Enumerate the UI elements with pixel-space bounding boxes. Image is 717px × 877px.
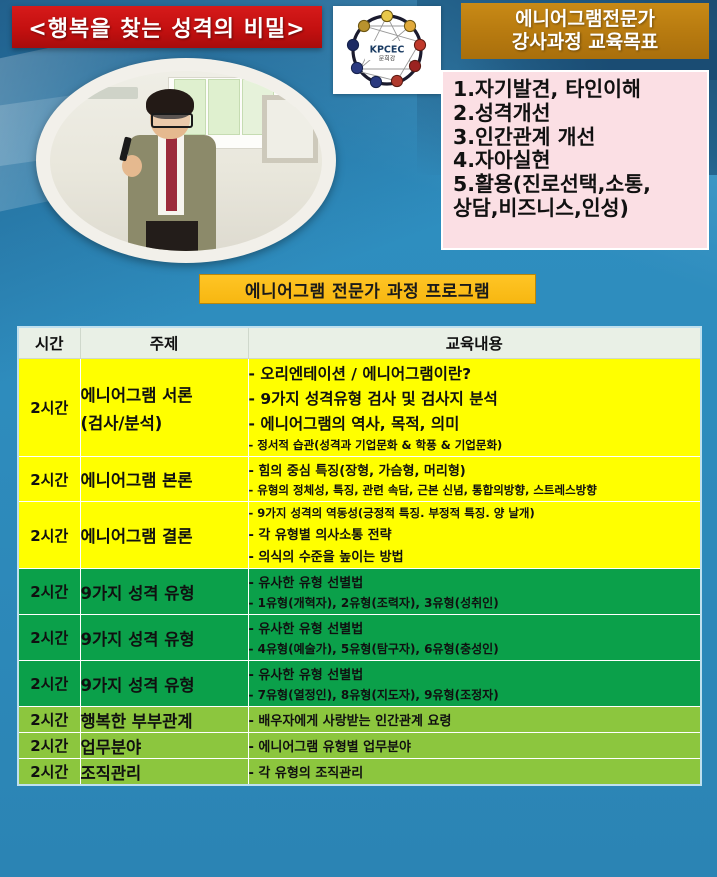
photo-person-glasses [151,113,193,128]
cell-topic-main: 조직관리 [81,764,142,783]
cell-time: 2시간 [18,733,80,759]
cell-topic: 에니어그램 본론 [80,457,248,502]
cell-topic: 업무분야 [80,733,248,759]
cell-time: 2시간 [18,661,80,707]
content-line: - 정서적 습관(성격과 기업문화 & 학풍 & 기업문화) [249,437,701,453]
objective-item-4: 4.자아실현 [453,149,701,173]
table-row: 2시간조직관리- 각 유형의 조직관리 [18,759,701,786]
table-row: 2시간행복한 부부관계- 배우자에게 사랑받는 인간관계 요령 [18,707,701,733]
svg-text:KPCEC: KPCEC [370,45,405,56]
content-line: - 7유형(열정인), 8유형(지도자), 9유형(조정자) [249,686,701,703]
slide-title-banner: <행복을 찾는 성격의 비밀> [12,6,322,48]
cell-content: - 각 유형의 조직관리 [248,759,701,786]
cell-topic-main: 업무분야 [81,738,142,757]
objectives-header: 에니어그램전문가 강사과정 교육목표 [461,3,709,59]
table-row: 2시간에니어그램 서론(검사/분석)- 오리엔테이션 / 에니어그램이란?- 9… [18,359,701,457]
photo-wall-logo [76,87,138,99]
lecturer-photo [50,71,322,251]
objective-item-5: 5.활용(진로선택,소통, [453,173,701,197]
cell-topic-main: 9가지 성격 유형 [81,676,195,695]
curriculum-table-body: 2시간에니어그램 서론(검사/분석)- 오리엔테이션 / 에니어그램이란?- 9… [18,359,701,786]
table-header-row: 시간 주제 교육내용 [18,327,701,359]
objective-item-2: 2.성격개선 [453,102,701,126]
cell-topic-main: 에니어그램 본론 [81,471,193,490]
cell-content: - 에니어그램 유형별 업무분야 [248,733,701,759]
content-line: - 배우자에게 사랑받는 인간관계 요령 [249,710,701,729]
cell-topic: 9가지 성격 유형 [80,661,248,707]
cell-content: - 힘의 중심 특징(장형, 가슴형, 머리형)- 유형의 정체성, 특징, 관… [248,457,701,502]
cell-time: 2시간 [18,707,80,733]
cell-time: 2시간 [18,359,80,457]
objective-item-5-continued: 상담,비즈니스,인성) [453,197,701,221]
cell-content: - 배우자에게 사랑받는 인간관계 요령 [248,707,701,733]
content-line: - 오리엔테이션 / 에니어그램이란? [249,362,701,384]
column-header-content: 교육내용 [248,327,701,359]
content-line: - 각 유형의 조직관리 [249,762,701,781]
table-row: 2시간업무분야- 에니어그램 유형별 업무분야 [18,733,701,759]
cell-time: 2시간 [18,759,80,786]
cell-content: - 유사한 유형 선별법- 1유형(개혁자), 2유형(조력자), 3유형(성취… [248,569,701,615]
cell-time: 2시간 [18,457,80,502]
content-line: - 1유형(개혁자), 2유형(조력자), 3유형(성취인) [249,594,701,611]
cell-topic: 9가지 성격 유형 [80,615,248,661]
content-line: - 유사한 유형 선별법 [249,618,701,637]
program-title-text: 에니어그램 전문가 과정 프로그램 [245,277,490,302]
table-row: 2시간9가지 성격 유형- 유사한 유형 선별법- 4유형(예술가), 5유형(… [18,615,701,661]
photo-board-card [208,79,240,135]
photo-person-tie [166,137,177,211]
cell-time: 2시간 [18,569,80,615]
cell-time: 2시간 [18,502,80,569]
table-row: 2시간에니어그램 결론- 9가지 성격의 역동성(긍정적 특징. 부정적 특징.… [18,502,701,569]
cell-topic-main: 에니어그램 서론 [81,386,193,405]
column-header-topic: 주제 [80,327,248,359]
svg-text:문희강: 문희강 [379,55,396,63]
content-line: - 힘의 중심 특징(장형, 가슴형, 머리형) [249,460,701,479]
content-line: - 각 유형별 의사소통 전략 [249,524,701,543]
enneagram-diagram-icon: KPCEC 문희강 [337,9,437,91]
cell-content: - 오리엔테이션 / 에니어그램이란?- 9가지 성격유형 검사 및 검사지 분… [248,359,701,457]
content-line: - 에니어그램의 역사, 목적, 의미 [249,412,701,434]
curriculum-table: 시간 주제 교육내용 2시간에니어그램 서론(검사/분석)- 오리엔테이션 / … [17,326,702,786]
lecturer-photo-frame [36,58,336,263]
cell-topic-sub: (검사/분석) [81,410,248,434]
kpcec-enneagram-logo: KPCEC 문희강 [333,6,441,94]
cell-topic: 조직관리 [80,759,248,786]
content-line: - 유형의 정체성, 특징, 관련 속담, 근본 신념, 통합의방향, 스트레스… [249,482,701,498]
cell-time: 2시간 [18,615,80,661]
table-row: 2시간9가지 성격 유형- 유사한 유형 선별법- 7유형(열정인), 8유형(… [18,661,701,707]
cell-content: - 9가지 성격의 역동성(긍정적 특징. 부정적 특징. 양 날개)- 각 유… [248,502,701,569]
photo-person-trousers [146,221,198,251]
objective-item-3: 3.인간관계 개선 [453,126,701,150]
cell-topic: 에니어그램 결론 [80,502,248,569]
photo-window [262,95,318,163]
cell-topic-main: 9가지 성격 유형 [81,584,195,603]
cell-topic: 행복한 부부관계 [80,707,248,733]
objectives-header-line1: 에니어그램전문가 [515,8,655,31]
objectives-header-line2: 강사과정 교육목표 [512,31,658,54]
content-line: - 9가지 성격유형 검사 및 검사지 분석 [249,387,701,409]
content-line: - 4유형(예술가), 5유형(탐구자), 6유형(충성인) [249,640,701,657]
content-line: - 의식의 수준을 높이는 방법 [249,546,701,565]
cell-topic-main: 9가지 성격 유형 [81,630,195,649]
program-title-banner: 에니어그램 전문가 과정 프로그램 [199,274,536,304]
column-header-time: 시간 [18,327,80,359]
cell-content: - 유사한 유형 선별법- 7유형(열정인), 8유형(지도자), 9유형(조정… [248,661,701,707]
cell-topic-main: 에니어그램 결론 [81,527,193,546]
content-line: - 9가지 성격의 역동성(긍정적 특징. 부정적 특징. 양 날개) [249,505,701,521]
objective-item-1: 1.자기발견, 타인이해 [453,78,701,102]
table-row: 2시간에니어그램 본론- 힘의 중심 특징(장형, 가슴형, 머리형)- 유형의… [18,457,701,502]
slide-title-text: <행복을 찾는 성격의 비밀> [28,11,305,43]
objectives-list: 1.자기발견, 타인이해 2.성격개선 3.인간관계 개선 4.자아실현 5.활… [441,70,709,250]
cell-topic: 9가지 성격 유형 [80,569,248,615]
cell-topic: 에니어그램 서론(검사/분석) [80,359,248,457]
slide-canvas: <행복을 찾는 성격의 비밀> KPCEC 문희강 에니어그램전문가 강사과정 … [0,0,717,877]
cell-topic-main: 행복한 부부관계 [81,712,193,731]
content-line: - 에니어그램 유형별 업무분야 [249,736,701,755]
cell-content: - 유사한 유형 선별법- 4유형(예술가), 5유형(탐구자), 6유형(충성… [248,615,701,661]
table-row: 2시간9가지 성격 유형- 유사한 유형 선별법- 1유형(개혁자), 2유형(… [18,569,701,615]
content-line: - 유사한 유형 선별법 [249,572,701,591]
content-line: - 유사한 유형 선별법 [249,664,701,683]
